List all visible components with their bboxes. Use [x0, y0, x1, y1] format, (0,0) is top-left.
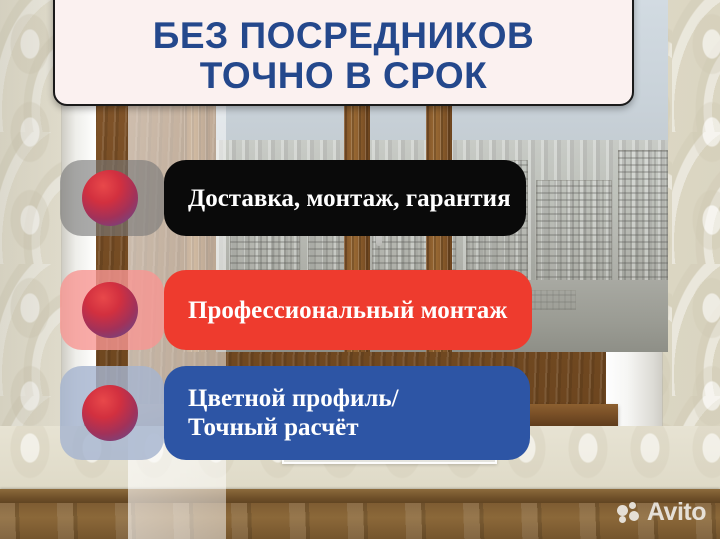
gradient-circle-icon	[82, 282, 138, 338]
feature-badge-professional-installation: Профессиональный монтаж	[60, 270, 532, 350]
feature-badge-colored-profile: Цветной профиль/ Точный расчёт	[60, 366, 530, 460]
headline-banner: БЕЗ ПОСРЕДНИКОВ ТОЧНО В СРОК	[53, 0, 634, 106]
avito-wordmark: Avito	[647, 498, 706, 527]
page-title: БЕЗ ПОСРЕДНИКОВ ТОЧНО В СРОК	[153, 16, 534, 96]
feature-badge-delivery: Доставка, монтаж, гарантия	[60, 160, 526, 236]
feature-label: Доставка, монтаж, гарантия	[188, 184, 511, 213]
badge-body: Цветной профиль/ Точный расчёт	[164, 366, 530, 460]
avito-dots-logo-icon	[617, 502, 641, 524]
feature-label: Профессиональный монтаж	[188, 296, 507, 325]
building	[536, 180, 612, 292]
poster-canvas: БЕЗ ПОСРЕДНИКОВ ТОЧНО В СРОК Доставка, м…	[0, 0, 720, 539]
feature-label: Цветной профиль/ Точный расчёт	[188, 384, 399, 442]
headline-line-1: БЕЗ ПОСРЕДНИКОВ	[153, 15, 534, 56]
badge-body: Доставка, монтаж, гарантия	[164, 160, 526, 236]
gradient-circle-icon	[82, 385, 138, 441]
headline-line-2: ТОЧНО В СРОК	[153, 56, 534, 96]
avito-watermark: Avito	[617, 498, 706, 527]
building	[618, 150, 668, 292]
gradient-circle-icon	[82, 170, 138, 226]
wood-floor	[0, 503, 720, 539]
badge-body: Профессиональный монтаж	[164, 270, 532, 350]
